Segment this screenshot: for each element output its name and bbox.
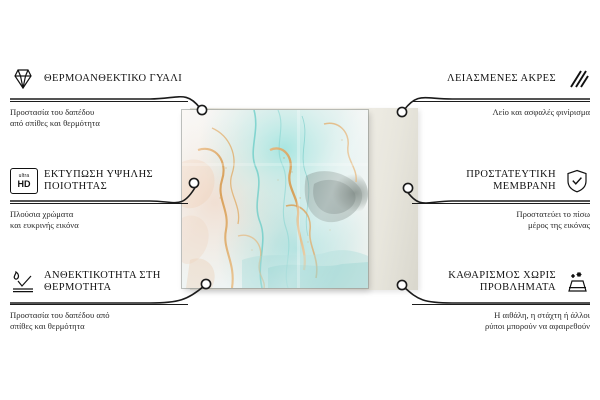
feature-description: Προστασία του δαπέδου από σπίθες και θερ… [10,107,188,129]
divider [412,203,590,204]
feature-title: ΛΕΙΑΣΜΕΝΕΣ ΑΚΡΕΣ [447,73,556,86]
feature-high-quality-print: ultra HD ΕΚΤΥΠΩΣΗ ΥΨΗΛΗΣ ΠΟΙΟΤΗΤΑΣ Πλούσ… [10,164,188,231]
feature-title: ΘΕΡΜΟΑΝΘΕΚΤΙΚΟ ΓΥΑΛΙ [44,73,182,86]
feature-description: Λείο και ασφαλές φινίρισμα [412,107,590,118]
desc-line-1: Λείο και ασφαλές φινίρισμα [412,107,590,118]
window-reflection-vertical [297,110,300,288]
desc-line-1: Πλούσια χρώματα [10,209,188,220]
feature-header: ΘΕΡΜΟΑΝΘΕΚΤΙΚΟ ΓΥΑΛΙ [10,62,188,96]
feature-header: ultra HD ΕΚΤΥΠΩΣΗ ΥΨΗΛΗΣ ΠΟΙΟΤΗΤΑΣ [10,164,188,198]
feature-polished-edges: ΛΕΙΑΣΜΕΝΕΣ ΑΚΡΕΣ Λείο και ασφαλές φινίρι… [412,62,590,118]
divider [412,101,590,102]
desc-line-1: Η αιθάλη, η στάχτη ή άλλοι [412,310,590,321]
window-reflection-horizontal [182,163,368,166]
diamond-icon [10,66,36,92]
feature-header: ΚΑΘΑΡΙΣΜΟΣ ΧΩΡΙΣ ΠΡΟΒΛΗΜΑΤΑ [412,265,590,299]
feature-header: ΑΝΘΕΚΤΙΚΟΤΗΤΑ ΣΤΗ ΘΕΡΜΟΤΗΤΑ [10,265,188,299]
feature-heat-durability: ΑΝΘΕΚΤΙΚΟΤΗΤΑ ΣΤΗ ΘΕΡΜΟΤΗΤΑ Προστασία το… [10,265,188,332]
feature-title: ΕΚΤΥΠΩΣΗ ΥΨΗΛΗΣ ΠΟΙΟΤΗΤΑΣ [44,169,188,194]
feature-header: ΛΕΙΑΣΜΕΝΕΣ ΑΚΡΕΣ [412,62,590,96]
infographic-canvas: ΘΕΡΜΟΑΝΘΕΚΤΙΚΟ ΓΥΑΛΙ Προστασία του δαπέδ… [0,0,600,400]
desc-line-1: Προστατεύει το πίσω [412,209,590,220]
ultra-hd-icon: ultra HD [10,168,36,194]
desc-line-1: Προστασία του δαπέδου από [10,310,188,321]
product-glass-panel [182,110,368,288]
divider [10,101,188,102]
feature-heat-resistant-glass: ΘΕΡΜΟΑΝΘΕΚΤΙΚΟ ΓΥΑΛΙ Προστασία του δαπέδ… [10,62,188,129]
polished-edges-icon [564,66,590,92]
feature-description: Προστατεύει το πίσω μέρος της εικόνας [412,209,590,231]
feature-easy-cleaning: ΚΑΘΑΡΙΣΜΟΣ ΧΩΡΙΣ ΠΡΟΒΛΗΜΑΤΑ Η αιθάλη, η … [412,265,590,332]
ultra-label: ultra [19,174,30,179]
abstract-marble-artwork [182,110,368,288]
feature-title: ΑΝΘΕΚΤΙΚΟΤΗΤΑ ΣΤΗ ΘΕΡΜΟΤΗΤΑ [44,270,188,295]
hd-label: HD [18,180,31,189]
desc-line-2: ρύποι μπορούν να αφαιρεθούν [412,321,590,332]
feature-protective-membrane: ΠΡΟΣΤΑΤΕΥΤΙΚΗ ΜΕΜΒΡΑΝΗ Προστατεύει το πί… [412,164,590,231]
product-image [182,108,418,290]
desc-line-2: και ευκρινής εικόνα [10,220,188,231]
desc-line-1: Προστασία του δαπέδου [10,107,188,118]
feature-description: Πλούσια χρώματα και ευκρινής εικόνα [10,209,188,231]
feature-header: ΠΡΟΣΤΑΤΕΥΤΙΚΗ ΜΕΜΒΡΑΝΗ [412,164,590,198]
desc-line-2: μέρος της εικόνας [412,220,590,231]
desc-line-2: σπίθες και θερμότητα [10,321,188,332]
feature-title: ΠΡΟΣΤΑΤΕΥΤΙΚΗ ΜΕΜΒΡΑΝΗ [412,169,556,194]
divider [412,304,590,305]
shield-check-icon [564,168,590,194]
feature-description: Η αιθάλη, η στάχτη ή άλλοι ρύποι μπορούν… [412,310,590,332]
divider [10,203,188,204]
divider [10,304,188,305]
easy-clean-icon [564,269,590,295]
feature-title: ΚΑΘΑΡΙΣΜΟΣ ΧΩΡΙΣ ΠΡΟΒΛΗΜΑΤΑ [412,270,556,295]
feature-description: Προστασία του δαπέδου από σπίθες και θερ… [10,310,188,332]
desc-line-2: από σπίθες και θερμότητα [10,118,188,129]
heat-resistant-icon [10,269,36,295]
